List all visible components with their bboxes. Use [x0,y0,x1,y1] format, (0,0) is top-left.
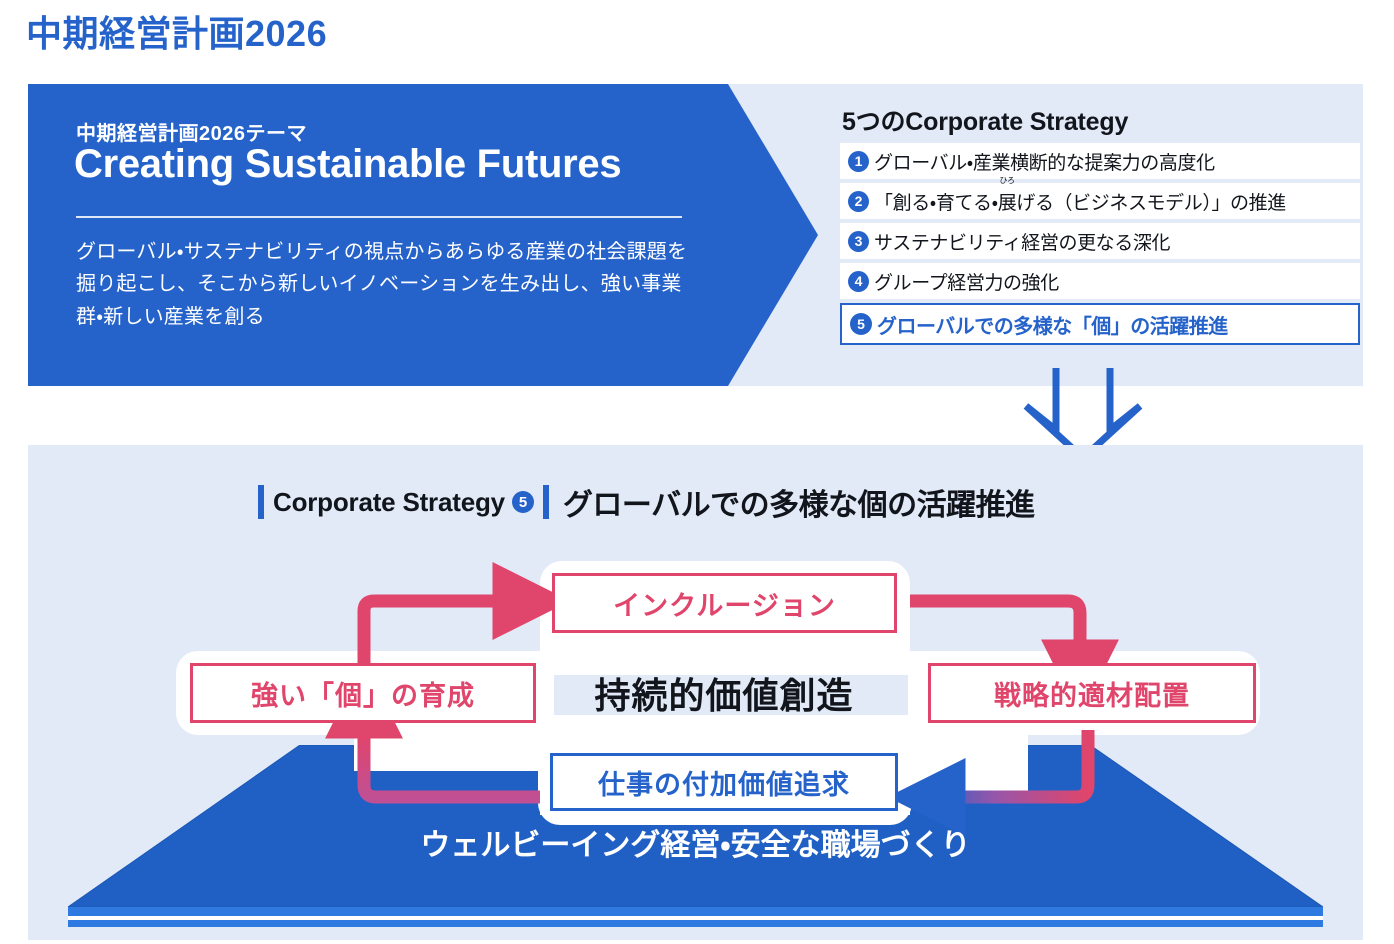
detail-eyebrow-badge: 5 [512,491,534,513]
number-badge-5: 5 [850,313,872,335]
strategy-item-1-label: グローバル・産業横断的な提案力の高度化 [874,148,1215,175]
strategy-item-4-label: グループ経営力の強化 [874,268,1059,295]
strategy-item-5-label: グローバルでの多様な「個」の活躍推進 [877,310,1228,339]
number-badge-2: 2 [848,191,869,212]
detail-eyebrow: Corporate Strategy 5 [273,487,534,518]
strategy-item-3-label: サステナビリティ経営の更なる深化 [874,228,1170,255]
accent-bar-right [543,485,549,519]
strategy-column: 5つのCorporate Strategy 1 グローバル・産業横断的な提案力の… [818,84,1363,386]
strategy-item-3[interactable]: 3 サステナビリティ経営の更なる深化 [840,222,1360,259]
theme-panel: 中期経営計画2026テーマ Creating Sustainable Futur… [28,84,818,386]
cycle-node-strategic-talent-placement[interactable]: 戦略的適材配置 [928,663,1256,723]
number-badge-4: 4 [848,271,869,292]
cycle-node-inclusion[interactable]: インクルージョン [552,573,897,633]
strategy-item-5[interactable]: 5 グローバルでの多様な「個」の活躍推進 [840,303,1360,345]
value-cycle-diagram: インクルージョン 戦略的適材配置 仕事の付加価値追求 強い「個」の育成 持続的価… [168,555,1288,845]
strategy-item-2[interactable]: 2 「創る・育てる・ひろ展げる（ビジネスモデル）」の推進 [840,182,1360,219]
cycle-node-strong-individual-development[interactable]: 強い「個」の育成 [190,663,536,723]
strategy-list: 1 グローバル・産業横断的な提案力の高度化 2 「創る・育てる・ひろ展げる（ビジ… [840,142,1360,348]
detail-title: グローバルでの多様な個の活躍推進 [563,480,1035,524]
cycle-node-work-added-value[interactable]: 仕事の付加価値追求 [550,753,898,811]
accent-bar-left [258,485,264,519]
page-title: 中期経営計画2026 [26,14,327,54]
theme-title: Creating Sustainable Futures [74,142,621,187]
slide-root: 中期経営計画2026 中期経営計画2026テーマ Creating Sustai… [0,0,1394,944]
detail-eyebrow-text: Corporate Strategy [273,487,505,518]
strategy-item-2-label-pre: 「創る・育てる・ [874,193,998,214]
strategy-item-2-label: 「創る・育てる・ひろ展げる（ビジネスモデル）」の推進 [874,188,1286,215]
ruby-annotation: ひろ [999,177,1014,185]
strategy-item-2-label-post: げる（ビジネスモデル）」の推進 [1016,193,1286,214]
top-section: 中期経営計画2026テーマ Creating Sustainable Futur… [28,84,1363,386]
detail-header: Corporate Strategy 5 グローバルでの多様な個の活躍推進 [258,482,1035,522]
ruby-hiro: ひろ展 [998,188,1017,215]
theme-divider [76,216,682,218]
strategy-heading: 5つのCorporate Strategy [842,102,1128,138]
ruby-base: 展 [998,193,1017,214]
strategy-item-1[interactable]: 1 グローバル・産業横断的な提案力の高度化 [840,142,1360,179]
number-badge-1: 1 [848,151,869,172]
cycle-center-label: 持続的価値創造 [548,663,900,723]
number-badge-3: 3 [848,231,869,252]
theme-description: グローバル・サステナビリティの視点からあらゆる産業の社会課題を掘り起こし、そこか… [76,236,706,333]
strategy-item-4[interactable]: 4 グループ経営力の強化 [840,262,1360,299]
detail-section: Corporate Strategy 5 グローバルでの多様な個の活躍推進 ウェ… [28,445,1363,940]
